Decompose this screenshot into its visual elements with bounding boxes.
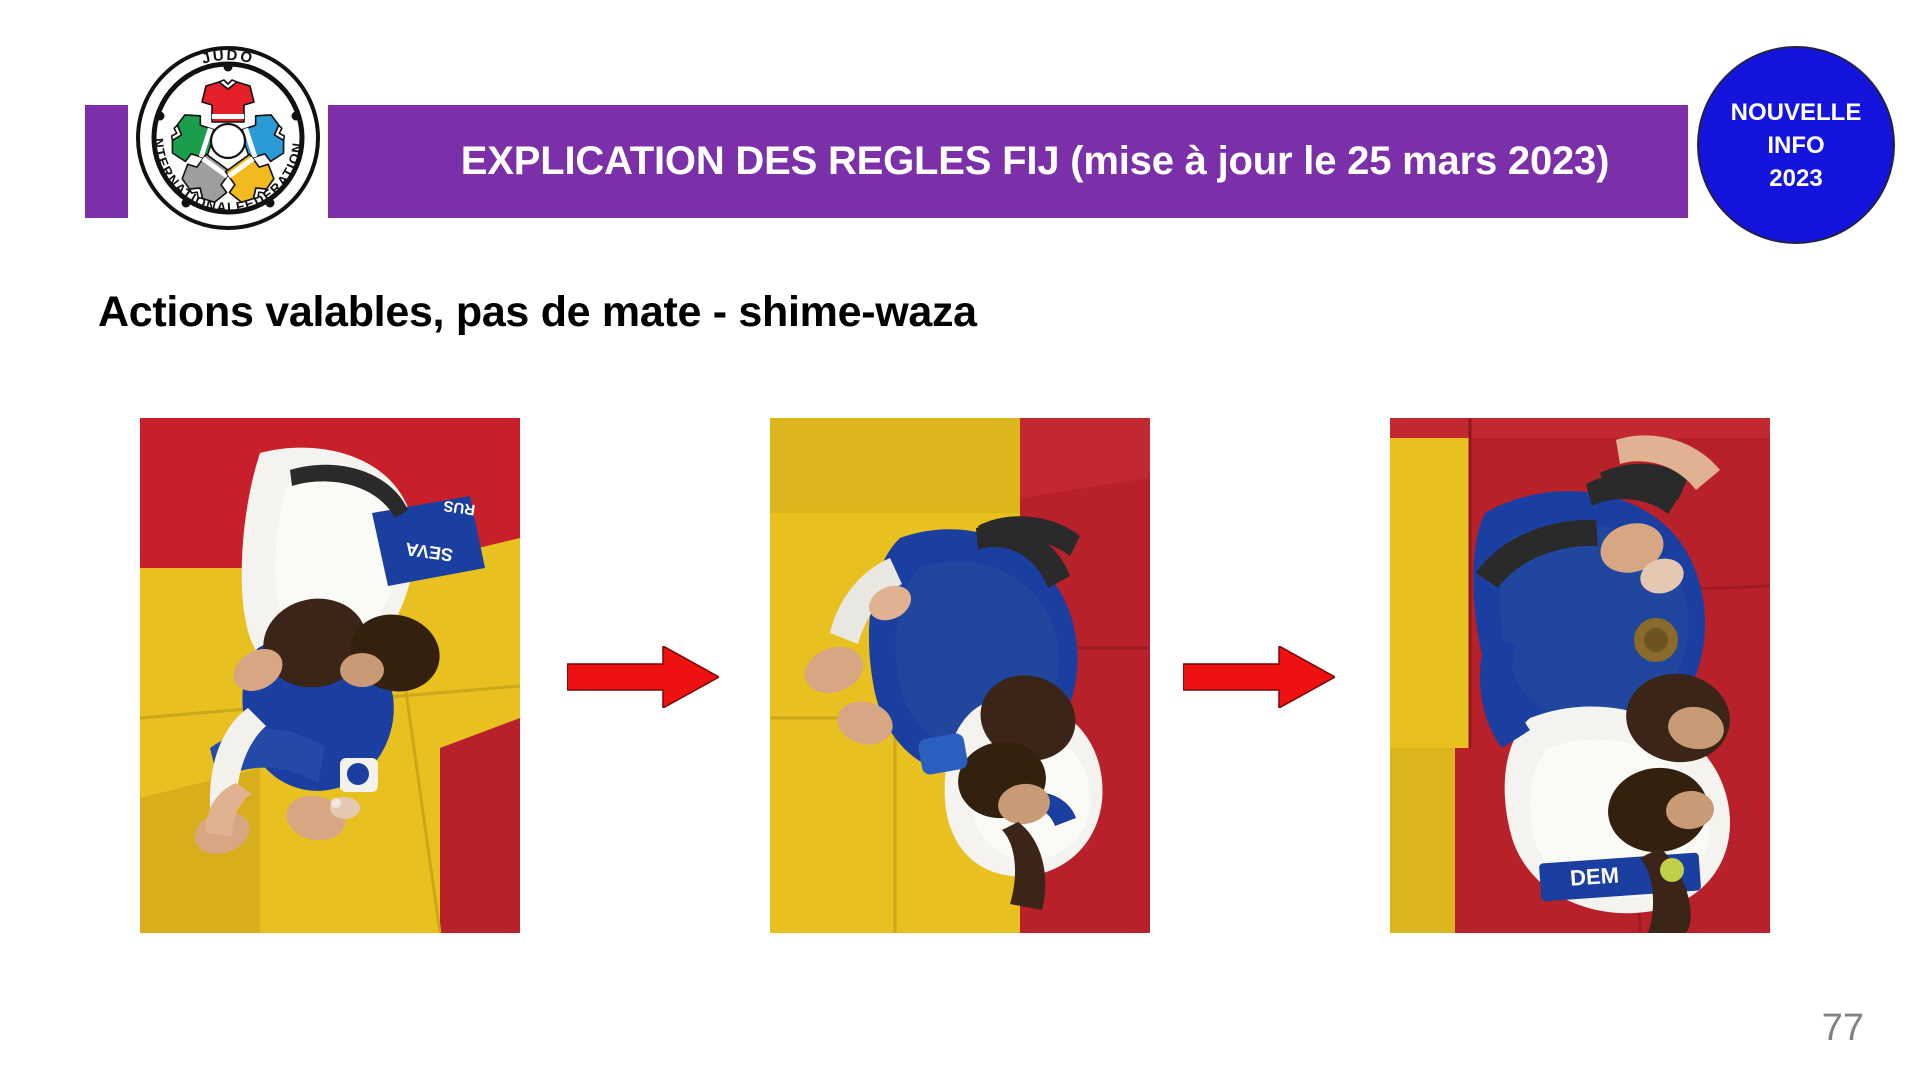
judo-photo-2: [770, 418, 1150, 933]
page-title: EXPLICATION DES REGLES FIJ (mise à jour …: [370, 122, 1700, 200]
badge-line-3: 2023: [1769, 162, 1822, 195]
badge-line-2: INFO: [1767, 129, 1824, 162]
photo-sequence: SEVA RUS: [135, 418, 1795, 938]
subtitle: Actions valables, pas de mate - shime-wa…: [98, 288, 977, 337]
judo-photo-3: DEM: [1390, 418, 1770, 933]
slide-root: EXPLICATION DES REGLES FIJ (mise à jour …: [0, 0, 1920, 1080]
status-badge: NOUVELLE INFO 2023: [1697, 46, 1895, 244]
page-number: 77: [1822, 1007, 1864, 1050]
badge-line-1: NOUVELLE: [1731, 96, 1862, 129]
judo-photo-1: SEVA RUS: [140, 418, 520, 933]
right-arrow-2: [1183, 646, 1335, 708]
right-arrow-1: [567, 646, 719, 708]
ijf-logo: JUDO INTERNATIONAL FEDERATION: [128, 38, 328, 238]
svg-text:DEM: DEM: [1569, 862, 1620, 890]
